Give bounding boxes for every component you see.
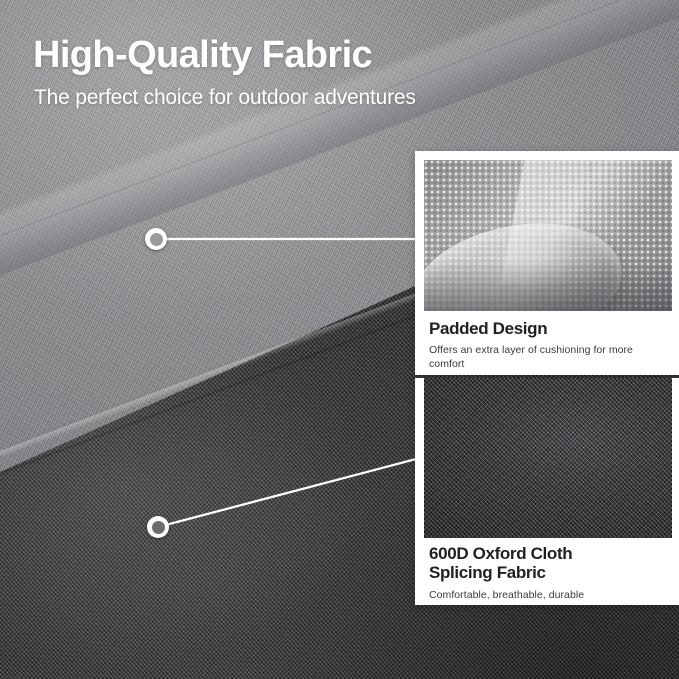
page-subtitle: The perfect choice for outdoor adventure… [34, 86, 416, 110]
product-infographic: High-Quality Fabric The perfect choice f… [0, 0, 679, 679]
callout-marker-oxford-cloth[interactable] [147, 516, 169, 538]
padded-fabric-shadow [424, 260, 672, 311]
callout-body-padded-design: Offers an extra layer of cushioning for … [429, 344, 669, 372]
callout-title-padded-design: Padded Design [429, 319, 669, 338]
oxford-weave-fabric-photo [424, 378, 672, 538]
callout-body-oxford-cloth: Comfortable, breathable, durable [429, 589, 669, 603]
oxford-fabric-texture [424, 378, 672, 538]
page-title: High-Quality Fabric [33, 36, 372, 76]
callout-card-oxford-cloth[interactable]: 600D Oxford Cloth Splicing Fabric Comfor… [415, 378, 679, 605]
callout-card-padded-design[interactable]: Padded Design Offers an extra layer of c… [415, 151, 679, 375]
callout-text-oxford-cloth: 600D Oxford Cloth Splicing Fabric Comfor… [429, 544, 669, 603]
padded-mesh-fabric-photo [424, 160, 672, 311]
callout-marker-padded-design[interactable] [145, 228, 167, 250]
callout-text-padded-design: Padded Design Offers an extra layer of c… [429, 319, 669, 372]
callout-title-oxford-cloth: 600D Oxford Cloth Splicing Fabric [429, 544, 669, 583]
